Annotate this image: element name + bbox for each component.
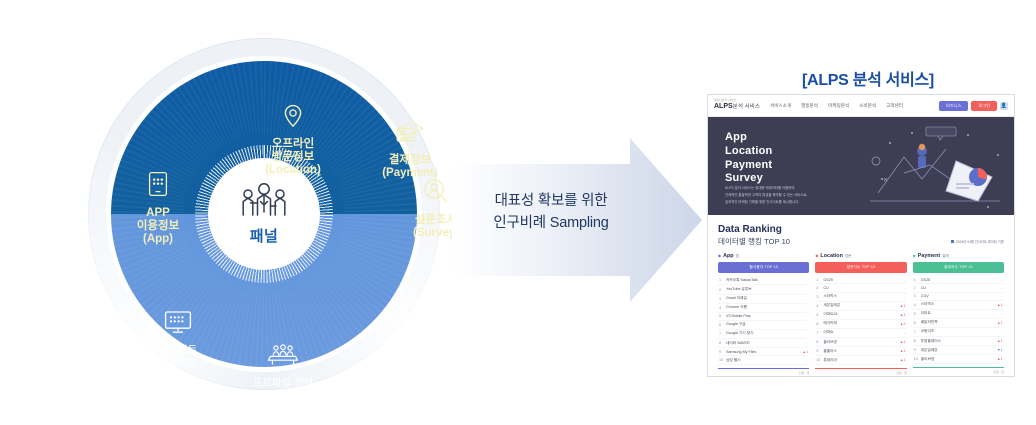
nav-link-1[interactable]: 행동분석 [801,103,818,109]
bullet-icon-location: ◆ [815,254,818,258]
table-row[interactable]: 5이마트- [913,310,1004,319]
nav-link-4[interactable]: 고객센터 [886,103,903,109]
table-row[interactable]: 9세븐일레븐▼1 [913,346,1004,355]
ranking-title: Data Ranking [718,224,790,236]
node-profile-line1: 프로파일 정보 [228,377,338,389]
tablet-apps-icon [110,171,206,203]
table-row[interactable]: 3Gmail 지메일- [718,295,809,304]
node-location-line2: 방문정보 [238,151,348,164]
ranking-note: 2024년 04월 인사이트 데이터 기준 [951,239,1004,246]
table-row[interactable]: 1GS25- [815,276,906,284]
alps-title: [ALPS 분석 서비스] [700,66,1036,90]
nav-link-0[interactable]: 서비스소개 [770,103,791,109]
data-analysis-illustration [860,121,1010,213]
node-purchase: 상품구매정보 (구매빅데이터) [356,300,466,360]
node-location-line3: (Location) [238,164,348,177]
node-website-line1: 웹사이트 [130,344,226,356]
arrow-caption-line2: 인구비례 Sampling [452,212,650,234]
column-name-payment: Payment [918,253,940,259]
node-location: 오프라인 방문정보 (Location) [238,104,348,178]
profile-people-icon [228,343,338,373]
node-payment-line1: 결제정보 [360,154,460,167]
alps-screenshot: 데이터분석 서비스 ALPS분석 서비스 서비스소개 행동분석 마케팅분석 소비… [707,94,1015,377]
hero-body-0: ALPS 분석 서비스는 방대한 빅데이터를 이용하여 [725,185,857,192]
table-row[interactable]: 4세븐일레븐▲1 [815,302,906,311]
table-row[interactable]: 2YouTube 유튜브- [718,285,809,294]
column-kr-payment: 결제 [942,254,949,259]
diagram-stage: 패널 오프라인 방문정보 (Location) [0,0,1036,425]
table-row[interactable]: 2CU- [815,284,906,292]
table-row[interactable]: 8투썸플레이스▲1 [913,337,1004,346]
arrow-caption-line1: 대표성 확보를 위한 [452,190,650,212]
hero-headline-2: Payment [725,159,772,173]
map-pin-icon [238,104,348,134]
nav-link-3[interactable]: 소비분석 [859,103,876,109]
table-row[interactable]: 6Google 구글- [718,321,809,330]
data-ranking-section: Data Ranking 데이터별 랭킹 TOP 10 2024년 04월 인사… [708,215,1014,375]
table-row[interactable]: 2CU- [913,284,1004,292]
shopping-cart-icon [356,300,466,332]
hero-headline: App Location Payment Survey [725,131,772,186]
table-row[interactable]: 5이마트24▲1 [815,311,906,320]
node-purchase-line2: (구매빅데이터) [356,348,466,360]
table-row[interactable]: 7이마트- [815,329,906,338]
alps-logo-main: ALPS분석 서비스 [714,103,760,111]
hero-body-1: 선제적인 통찰력과 고객의 특성을 파악할 수 있는 서비스로, [725,192,857,199]
hub-label: 패널 [250,225,279,246]
nav-link-2[interactable]: 마케팅분석 [828,103,849,109]
column-kr-app: 앱 [736,254,739,259]
hero-headline-0: App [725,131,772,145]
node-app-line1: APP [110,207,206,220]
node-app: APP 이용정보 (App) [110,171,206,247]
alps-nav-links: 서비스소개 행동분석 마케팅분석 소비분석 고객센터 [770,103,939,109]
people-group-icon [237,182,291,223]
node-app-line2: 이용정보 [110,220,206,233]
table-row[interactable]: 8올리브영▲1 [815,338,906,347]
user-avatar-icon[interactable]: 👤 [1000,102,1008,110]
note-dot-icon [951,240,954,243]
monitor-icon [130,310,226,340]
column-name-app: App [723,253,733,259]
column-bar-location: 방문자수 TOP 10 [815,262,906,273]
table-row[interactable]: 1GS25- [913,276,1004,284]
column-head-app: ◆ App 앱 [718,253,809,259]
table-row[interactable]: 1카카오톡 KakaoTalk- [718,276,809,285]
hero-headline-3: Survey [725,172,772,186]
table-row[interactable]: 10올리브영▲1 [913,355,1004,364]
ranking-column-payment: ◆ Payment 결제 결제자수 TOP 10 1GS25- 2CU- 3CG… [913,253,1004,375]
column-head-location: ◆ Location 방문 [815,253,906,259]
table-row[interactable]: 9홈플러스▲1 [815,347,906,356]
table-row[interactable]: 6메가커피▲2 [815,320,906,329]
hero-headline-1: Location [725,145,772,159]
table-row[interactable]: 8네이버 NAVER- [718,339,809,348]
column-footer-app: 단위 : 명 [718,368,809,375]
rows-location: 1GS25- 2CU- 3스타벅스- 4세븐일레븐▲1 5이마트24▲1 6메가… [815,276,906,365]
ranking-note-text: 2024년 04월 인사이트 데이터 기준 [956,239,1004,244]
column-footer-location: 단위 : 명 [815,368,906,375]
rows-payment: 1GS25- 2CU- 3CGV- 4스타벅스▲1 5이마트- 6배달의민족▲1… [913,276,1004,364]
table-row[interactable]: 10삼성 헬스- [718,356,809,365]
ranking-column-location: ◆ Location 방문 방문자수 TOP 10 1GS25- 2CU- 3스… [815,253,906,375]
table-row[interactable]: 3CGV- [913,293,1004,301]
table-row[interactable]: 3스타벅스- [815,293,906,302]
bullet-icon-app: ◆ [718,254,721,258]
column-bar-payment: 결제자수 TOP 10 [913,262,1004,273]
node-app-line3: (App) [110,233,206,246]
column-bar-app: 월사용자 TOP 10 [718,262,809,273]
credit-card-icon [360,120,460,150]
table-row[interactable]: 5V3 Mobile Plus- [718,313,809,321]
panel-data-circle: 패널 오프라인 방문정보 (Location) [88,38,440,390]
table-row[interactable]: 4스타벅스▲1 [913,301,1004,310]
hero-body: ALPS 분석 서비스는 방대한 빅데이터를 이용하여 선제적인 통찰력과 고객… [725,185,857,206]
node-location-line1: 오프라인 [238,138,348,151]
node-payment: 결제정보 (Payment) [360,120,460,180]
table-row[interactable]: 7Google 기기 찾기- [718,330,809,339]
column-kr-location: 방문 [845,254,852,259]
node-website-line2: 방문정보 [130,356,226,368]
alps-nav-buttons: 비즈니스 로그인 👤 [939,101,1008,111]
arrow-caption: 대표성 확보를 위한 인구비례 Sampling [452,190,650,235]
node-website: 웹사이트 방문정보 [130,310,226,368]
rows-app: 1카카오톡 KakaoTalk- 2YouTube 유튜브- 3Gmail 지메… [718,276,809,365]
node-purchase-line1: 상품구매정보 [356,336,466,348]
ranking-column-app: ◆ App 앱 월사용자 TOP 10 1카카오톡 KakaoTalk- 2Yo… [718,253,809,375]
alps-hero: App Location Payment Survey ALPS 분석 서비스는… [708,117,1014,215]
column-name-location: Location [820,253,842,259]
hero-body-2: 효과적인 마케팅 기획을 위한 인사이트를 제시합니다. [725,199,857,206]
login-button[interactable]: 로그인 [971,101,997,111]
table-row[interactable]: 9Samsung My Files▲1 [718,348,809,356]
ranking-header: Data Ranking 데이터별 랭킹 TOP 10 2024년 04월 인사… [718,224,1004,246]
bullet-icon-payment: ◆ [913,254,916,258]
table-row[interactable]: 6배달의민족▲1 [913,319,1004,328]
table-row[interactable]: 4Chrome 크롬- [718,304,809,313]
sampling-arrow: 대표성 확보를 위한 인구비례 Sampling [452,138,702,302]
column-head-payment: ◆ Payment 결제 [913,253,1004,259]
ranking-columns: ◆ App 앱 월사용자 TOP 10 1카카오톡 KakaoTalk- 2Yo… [718,253,1004,375]
business-button[interactable]: 비즈니스 [939,101,968,111]
alps-navbar: 데이터분석 서비스 ALPS분석 서비스 서비스소개 행동분석 마케팅분석 소비… [708,95,1014,117]
node-profile: 프로파일 정보 (800여개) [228,343,338,401]
ranking-subtitle: 데이터별 랭킹 TOP 10 [718,237,790,247]
column-footer-payment: 단위 : 원 [913,367,1004,374]
alps-logo[interactable]: 데이터분석 서비스 ALPS분석 서비스 [714,100,760,110]
table-row[interactable]: 7쿠팡이츠- [913,328,1004,337]
node-profile-line2: (800여개) [228,389,338,401]
table-row[interactable]: 10롯데리아▲1 [815,356,906,365]
